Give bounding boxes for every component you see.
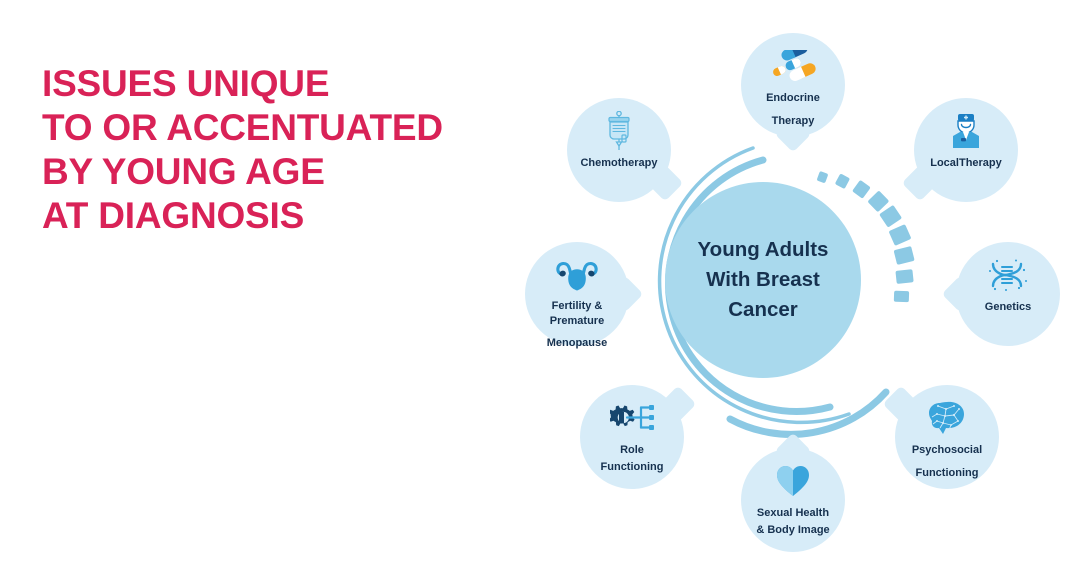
node-role-functioning[interactable]: RoleFunctioning [580, 385, 684, 489]
center-hub-line-3: Cancer [728, 295, 798, 325]
brain-icon [924, 398, 970, 438]
uterus-icon [554, 255, 600, 295]
gear-network-icon [609, 398, 655, 438]
surgeon-icon [943, 111, 989, 151]
node-label: Fertility &PrematureMenopause [547, 299, 608, 351]
radial-diagram: Young Adults With Breast Cancer [500, 0, 1080, 563]
center-hub-line-2: With Breast [706, 265, 820, 295]
node-local-therapy[interactable]: LocalTherapy [914, 98, 1018, 202]
node-label: EndocrineTherapy [766, 90, 820, 130]
node-sexual-health-body-image[interactable]: Sexual Health& Body Image [741, 448, 845, 552]
center-hub-line-1: Young Adults [698, 235, 829, 265]
center-hub: Young Adults With Breast Cancer [665, 182, 861, 378]
page-title: ISSUES UNIQUE TO OR ACCENTUATED BY YOUNG… [42, 62, 512, 238]
page-title-line-2: TO OR ACCENTUATED [42, 106, 512, 150]
node-chemotherapy[interactable]: Chemotherapy [567, 98, 671, 202]
page-title-line-1: ISSUES UNIQUE [42, 62, 512, 106]
dna-icon [985, 255, 1031, 295]
node-label: LocalTherapy [930, 155, 1002, 172]
node-fertility-premature-menopause[interactable]: Fertility &PrematureMenopause [525, 242, 629, 346]
node-endocrine-therapy[interactable]: EndocrineTherapy [741, 33, 845, 137]
node-label: Chemotherapy [580, 155, 657, 172]
page-title-line-3: BY YOUNG AGE [42, 150, 512, 194]
node-label: RoleFunctioning [601, 442, 664, 476]
page-title-line-4: AT DIAGNOSIS [42, 194, 512, 238]
pills-icon [770, 46, 816, 86]
node-label: Sexual Health& Body Image [756, 505, 829, 539]
node-label: Genetics [985, 299, 1031, 316]
node-psychosocial-functioning[interactable]: PsychosocialFunctioning [895, 385, 999, 489]
iv-bag-icon [596, 111, 642, 151]
node-genetics[interactable]: Genetics [956, 242, 1060, 346]
heart-icon [770, 461, 816, 501]
node-label: PsychosocialFunctioning [912, 442, 982, 482]
